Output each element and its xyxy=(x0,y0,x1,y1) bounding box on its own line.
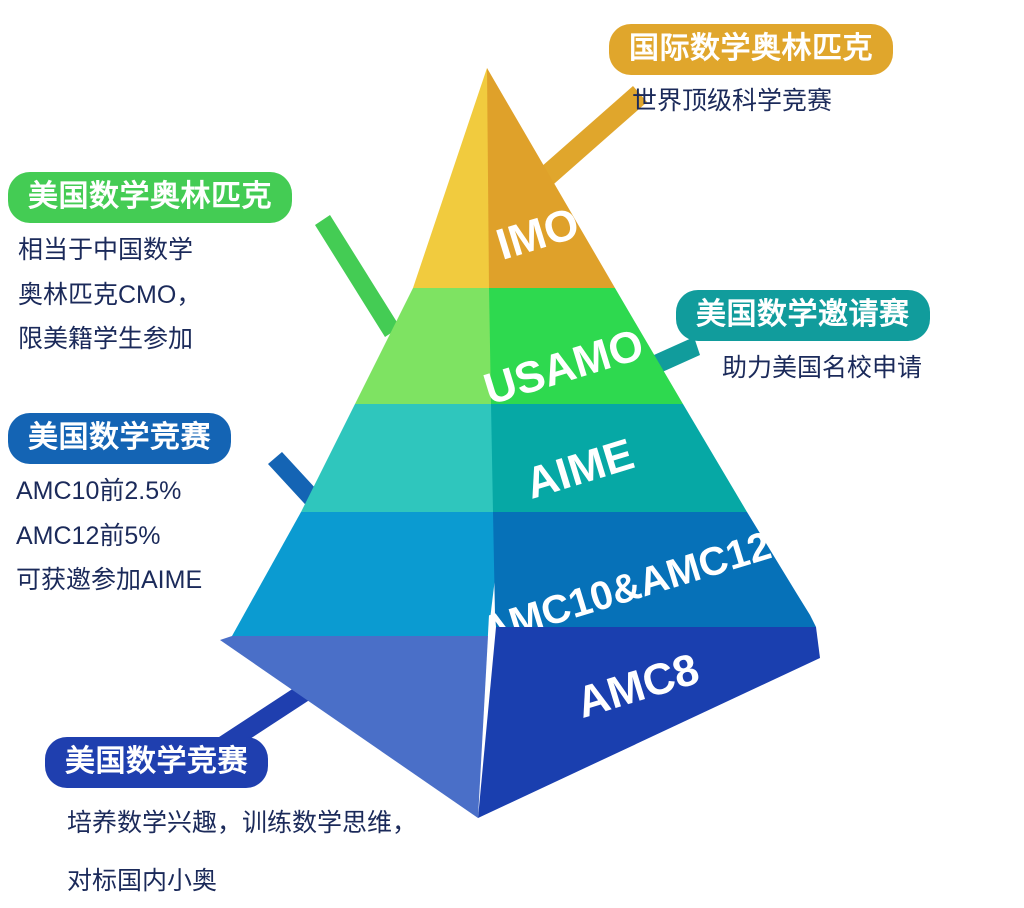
tier-usamo[interactable]: USAMO xyxy=(355,288,683,415)
callout-usamo-desc-line1: 相当于中国数学 xyxy=(18,234,292,267)
callout-amc8[interactable]: 美国数学竞赛 培养数学兴趣，训练数学思维， 对标国内小奥 xyxy=(45,737,417,904)
pyramid-infographic: IMO USAMO AIME AMC10&AMC12 AMC8 xyxy=(0,0,1024,908)
tier-aime[interactable]: AIME xyxy=(301,404,747,512)
connector-usamo xyxy=(315,215,400,337)
tier-amc1012-left-face xyxy=(232,512,503,636)
callout-amc1012-desc-line2: AMC12前5% xyxy=(16,520,231,553)
tier-imo[interactable]: IMO xyxy=(413,68,615,288)
callout-usamo-pill[interactable]: 美国数学奥林匹克 xyxy=(8,172,292,223)
callout-amc8-pill[interactable]: 美国数学竞赛 xyxy=(45,737,268,788)
callout-usamo[interactable]: 美国数学奥林匹克 相当于中国数学 奥林匹克CMO， 限美籍学生参加 xyxy=(8,172,292,356)
callout-amc1012[interactable]: 美国数学竞赛 AMC10前2.5% AMC12前5% 可获邀参加AIME xyxy=(8,413,231,597)
callout-aime[interactable]: 美国数学邀请赛 助力美国名校申请 xyxy=(676,290,930,386)
callout-usamo-desc-line3: 限美籍学生参加 xyxy=(18,323,292,356)
callout-amc1012-desc-line3: 可获邀参加AIME xyxy=(16,564,231,597)
callout-aime-desc: 助力美国名校申请 xyxy=(722,352,930,385)
callout-imo-pill[interactable]: 国际数学奥林匹克 xyxy=(609,24,893,75)
callout-imo-desc: 世界顶级科学竞赛 xyxy=(632,85,893,118)
callout-amc1012-desc-line1: AMC10前2.5% xyxy=(16,475,231,508)
callout-aime-pill[interactable]: 美国数学邀请赛 xyxy=(676,290,930,341)
callout-amc1012-pill[interactable]: 美国数学竞赛 xyxy=(8,413,231,464)
callout-amc8-desc-line1: 培养数学兴趣，训练数学思维， xyxy=(67,802,417,846)
callout-amc8-desc-line2: 对标国内小奥 xyxy=(67,860,417,904)
tier-aime-left-face xyxy=(301,404,519,512)
callout-usamo-desc-line2: 奥林匹克CMO， xyxy=(18,279,292,312)
callout-imo[interactable]: 国际数学奥林匹克 世界顶级科学竞赛 xyxy=(609,24,893,119)
tier-amc8-right-face xyxy=(478,627,820,818)
